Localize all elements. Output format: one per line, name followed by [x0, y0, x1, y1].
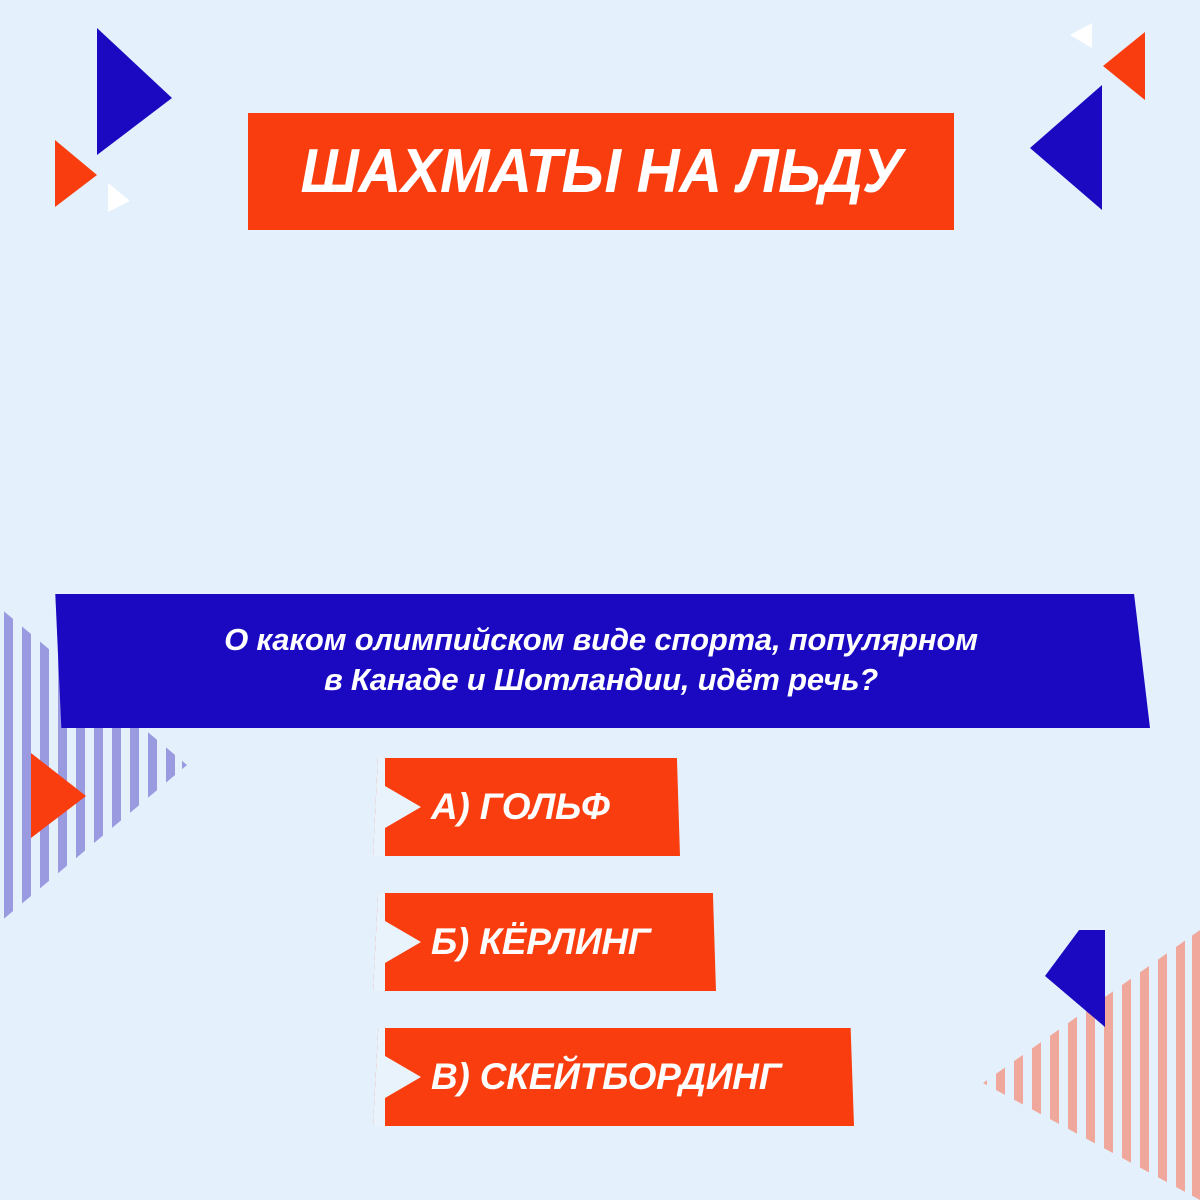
answer-option-c[interactable]: В) СКЕЙТБОРДИНГ: [373, 1028, 854, 1126]
page-title: ШАХМАТЫ НА ЛЬДУ: [300, 141, 902, 203]
quiz-card: ШАХМАТЫ НА ЛЬДУ О каком олимпийском виде…: [0, 0, 1200, 1200]
triangle-white-top-left: [108, 183, 130, 212]
chevron-right-icon: [373, 1028, 439, 1126]
triangle-blue-top-right: [1030, 85, 1102, 210]
chevron-right-icon: [373, 758, 439, 856]
answer-option-b-label: Б) КЁРЛИНГ: [431, 921, 650, 963]
triangle-orange-top-left: [55, 140, 97, 207]
chevron-right-icon: [373, 893, 439, 991]
triangle-orange-left: [31, 753, 86, 838]
answer-option-a[interactable]: А) ГОЛЬФ: [373, 758, 680, 856]
answer-option-b[interactable]: Б) КЁРЛИНГ: [373, 893, 716, 991]
decoration-bottom-right-fan: [960, 930, 1200, 1200]
triangle-blue-top-left: [97, 28, 172, 155]
triangle-blue-bottom-right: [1045, 930, 1105, 1027]
question-text: О каком олимпийском виде спорта, популяр…: [224, 620, 978, 702]
question-line: О каком олимпийском виде спорта, популяр…: [224, 620, 978, 660]
answer-option-c-label: В) СКЕЙТБОРДИНГ: [431, 1056, 781, 1098]
answer-option-a-label: А) ГОЛЬФ: [431, 786, 610, 828]
question-banner: О каком олимпийском виде спорта, популяр…: [52, 594, 1150, 728]
question-line: в Канаде и Шотландии, идёт речь?: [224, 660, 978, 700]
triangle-white-top-right: [1070, 23, 1092, 48]
decoration-top-right: [1020, 18, 1200, 228]
triangle-orange-top-right: [1103, 32, 1145, 100]
title-banner: ШАХМАТЫ НА ЛЬДУ: [248, 113, 954, 230]
decoration-top-left: [40, 15, 240, 225]
striped-fan-bottom-right: [978, 930, 1200, 1200]
